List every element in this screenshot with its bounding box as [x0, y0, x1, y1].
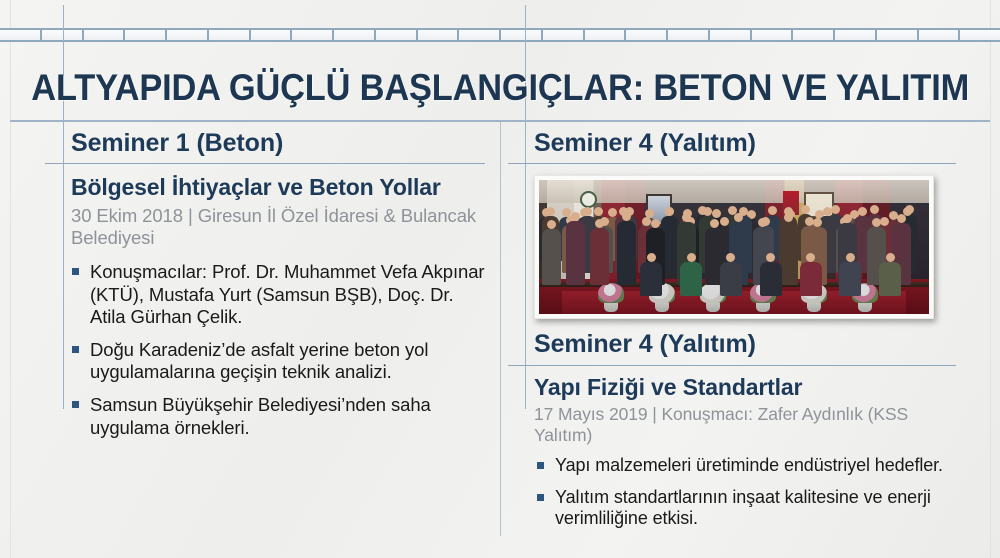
band-segment: [376, 30, 418, 40]
page-title: ALTYAPIDA GÜÇLÜ BAŞLANGIÇLAR: BETON VE Y…: [31, 69, 969, 106]
person-silhouette: [590, 228, 609, 285]
list-item-text: Yapı malzemeleri üretiminde endüstriyel …: [555, 455, 943, 475]
bullet-square-icon: [537, 494, 544, 501]
band-segment: [710, 30, 752, 40]
bullet-square-icon: [72, 346, 79, 353]
band-segment: [543, 30, 585, 40]
right-top-seminar-label: Seminer 4 (Yalıtım): [508, 130, 956, 156]
bullet-square-icon: [537, 462, 544, 469]
left-talk-title: Bölgesel İhtiyaçlar ve Beton Yollar: [45, 164, 485, 201]
band-segment: [752, 30, 794, 40]
right-talk-title: Yapı Fiziği ve Standartlar: [508, 366, 956, 401]
band-segment: [793, 30, 835, 40]
band-segment: [251, 30, 293, 40]
band-segment: [125, 30, 167, 40]
band-segment: [292, 30, 334, 40]
left-bullet-list: Konuşmacılar: Prof. Dr. Muhammet Vefa Ak…: [45, 249, 485, 438]
person-silhouette-seated: [640, 262, 662, 296]
right-top-seminar-rule: [508, 163, 956, 164]
band-segment: [167, 30, 209, 40]
band-segment: [209, 30, 251, 40]
person-silhouette-seated: [800, 262, 822, 296]
photo-inner: [539, 180, 929, 314]
flower-vase: [596, 290, 626, 311]
top-decorative-band: [0, 28, 1000, 42]
person-silhouette: [617, 221, 636, 284]
list-item: Samsun Büyükşehir Belediyesi’nden saha u…: [71, 394, 485, 438]
right-bottom-seminar-label: Seminer 4 (Yalıtım): [508, 319, 956, 357]
band-segment: [334, 30, 376, 40]
band-segment: [877, 30, 919, 40]
band-segment: [84, 30, 126, 40]
column-divider: [500, 122, 501, 536]
band-segment: [0, 30, 42, 40]
band-segment: [835, 30, 877, 40]
band-segment: [668, 30, 710, 40]
bullet-square-icon: [72, 401, 79, 408]
list-item: Konuşmacılar: Prof. Dr. Muhammet Vefa Ak…: [71, 261, 485, 328]
list-item-text: Yalıtım standartlarının inşaat kalitesin…: [555, 487, 931, 529]
slide-title-bar: ALTYAPIDA GÜÇLÜ BAŞLANGIÇLAR: BETON VE Y…: [0, 58, 1000, 116]
list-item: Yalıtım standartlarının inşaat kalitesin…: [536, 487, 956, 530]
slide-canvas: ALTYAPIDA GÜÇLÜ BAŞLANGIÇLAR: BETON VE Y…: [0, 0, 1000, 558]
band-segment: [626, 30, 668, 40]
bullet-square-icon: [72, 268, 79, 275]
right-column: Seminer 4 (Yalıtım) Seminer 4 (Yalıtım) …: [508, 130, 956, 540]
band-segment: [501, 30, 543, 40]
list-item-text: Konuşmacılar: Prof. Dr. Muhammet Vefa Ak…: [90, 261, 484, 326]
left-column: Seminer 1 (Beton) Bölgesel İhtiyaçlar ve…: [45, 130, 485, 439]
list-item: Yapı malzemeleri üretiminde endüstriyel …: [536, 455, 956, 477]
person-silhouette-seated: [760, 262, 782, 296]
person-silhouette-seated: [680, 262, 702, 296]
person-silhouette-seated: [720, 262, 742, 296]
person-silhouette-seated: [839, 262, 861, 296]
right-bullet-list: Yapı malzemeleri üretiminde endüstriyel …: [508, 446, 956, 530]
list-item-text: Doğu Karadeniz’de asfalt yerine beton yo…: [90, 339, 428, 382]
person-silhouette: [566, 221, 585, 285]
flower-bouquet: [598, 283, 624, 303]
list-item-text: Samsun Büyükşehir Belediyesi’nden saha u…: [90, 394, 431, 437]
person-silhouette: [542, 229, 561, 285]
left-seminar-label: Seminer 1 (Beton): [45, 130, 485, 156]
band-segment: [418, 30, 460, 40]
band-segment: [585, 30, 627, 40]
person-silhouette-seated: [879, 262, 901, 296]
list-item: Doğu Karadeniz’de asfalt yerine beton yo…: [71, 339, 485, 383]
right-talk-meta: 17 Mayıs 2019 | Konuşmacı: Zafer Aydınlı…: [508, 400, 956, 446]
left-talk-meta: 30 Ekim 2018 | Giresun İl Özel İdaresi &…: [45, 201, 485, 249]
seminar-group-photo: [534, 175, 934, 319]
band-segment: [960, 30, 1000, 40]
band-segment: [919, 30, 961, 40]
band-segment: [459, 30, 501, 40]
